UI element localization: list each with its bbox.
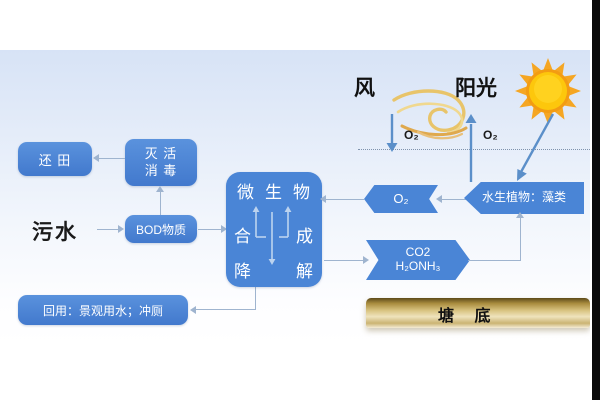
- node-inactivation-disinfection[interactable]: 灭 活 消 毒: [125, 139, 197, 186]
- node-bod[interactable]: BOD物质: [125, 215, 197, 243]
- node-oxygen[interactable]: O₂: [364, 185, 438, 213]
- node-co2-label-line2: H₂ONH₃: [396, 260, 441, 274]
- label-wind-text: 风: [354, 77, 375, 100]
- connector-wastewater-to-bod: [97, 229, 119, 230]
- arrowhead-microbe-to-co2: [363, 256, 369, 264]
- node-oxygen-label: O₂: [393, 192, 408, 207]
- connector-degrade-down: [255, 285, 256, 310]
- node-bod-label: BOD物质: [136, 221, 186, 238]
- label-o2-down-text: O₂: [404, 128, 419, 142]
- label-sunlight-text: 阳光: [455, 77, 497, 100]
- arrowhead-bod-to-inactivation: [156, 186, 164, 192]
- oxygen-downward-arrow: [384, 112, 400, 154]
- diagram-canvas: 还 田 灭 活 消 毒 BOD物质 污水 回用：景观用水；冲厕: [0, 50, 590, 345]
- node-return-to-field-label: 还 田: [39, 150, 72, 169]
- connector-degrade-to-reuse: [196, 309, 256, 310]
- arrowhead-oxygen-to-microbe: [320, 195, 326, 203]
- arrowhead-inactivation-to-return: [93, 154, 99, 162]
- label-sunlight: 阳光: [455, 72, 497, 102]
- node-return-to-field[interactable]: 还 田: [18, 142, 92, 176]
- connector-microbe-to-co2: [324, 260, 364, 261]
- connector-oxygen-to-microbe: [324, 199, 364, 200]
- label-wastewater: 污水: [32, 216, 78, 246]
- label-wind: 风: [354, 72, 375, 102]
- label-o2-down: O₂: [404, 128, 419, 142]
- right-edge-bar: [592, 0, 600, 400]
- node-aquatic-plants-label: 水生植物：藻类: [482, 191, 566, 205]
- connector-inactivation-to-return: [98, 158, 125, 159]
- arrowhead-algae-to-oxygen: [436, 195, 442, 203]
- connector-bod-to-inactivation: [160, 192, 161, 215]
- node-inactivation-label-line1: 灭 活: [145, 146, 178, 162]
- node-co2[interactable]: CO2 H₂ONH₃: [366, 240, 470, 280]
- diagram-stage: 还 田 灭 活 消 毒 BOD物质 污水 回用：景观用水；冲厕: [0, 0, 600, 400]
- node-co2-label-line1: CO2: [406, 246, 431, 260]
- pond-bottom-text: 塘 底: [438, 308, 498, 325]
- arrowhead-degrade-to-reuse: [190, 306, 196, 314]
- arrowhead-co2-to-algae: [516, 212, 524, 218]
- node-reuse[interactable]: 回用：景观用水；冲厕: [18, 295, 188, 325]
- node-inactivation-label-line2: 消 毒: [145, 163, 178, 179]
- connector-algae-to-oxygen: [441, 199, 466, 200]
- arrowhead-wastewater-to-bod: [118, 225, 124, 233]
- oxygen-upward-arrow: [463, 112, 479, 184]
- node-reuse-label: 回用：景观用水；冲厕: [43, 302, 163, 319]
- connector-co2-right: [468, 260, 521, 261]
- label-o2-up: O₂: [483, 128, 498, 142]
- node-microorganism[interactable]: 微 生 物 合 成 降 解: [226, 172, 322, 287]
- connector-co2-up-to-algae: [520, 218, 521, 261]
- sunbeam-arrow: [505, 110, 565, 188]
- pond-bottom-label: 塘 底: [438, 302, 498, 326]
- microorganism-inner-arrows: [226, 172, 322, 287]
- label-o2-up-text: O₂: [483, 128, 498, 142]
- label-wastewater-text: 污水: [32, 221, 78, 244]
- connector-bod-to-microbe: [198, 229, 222, 230]
